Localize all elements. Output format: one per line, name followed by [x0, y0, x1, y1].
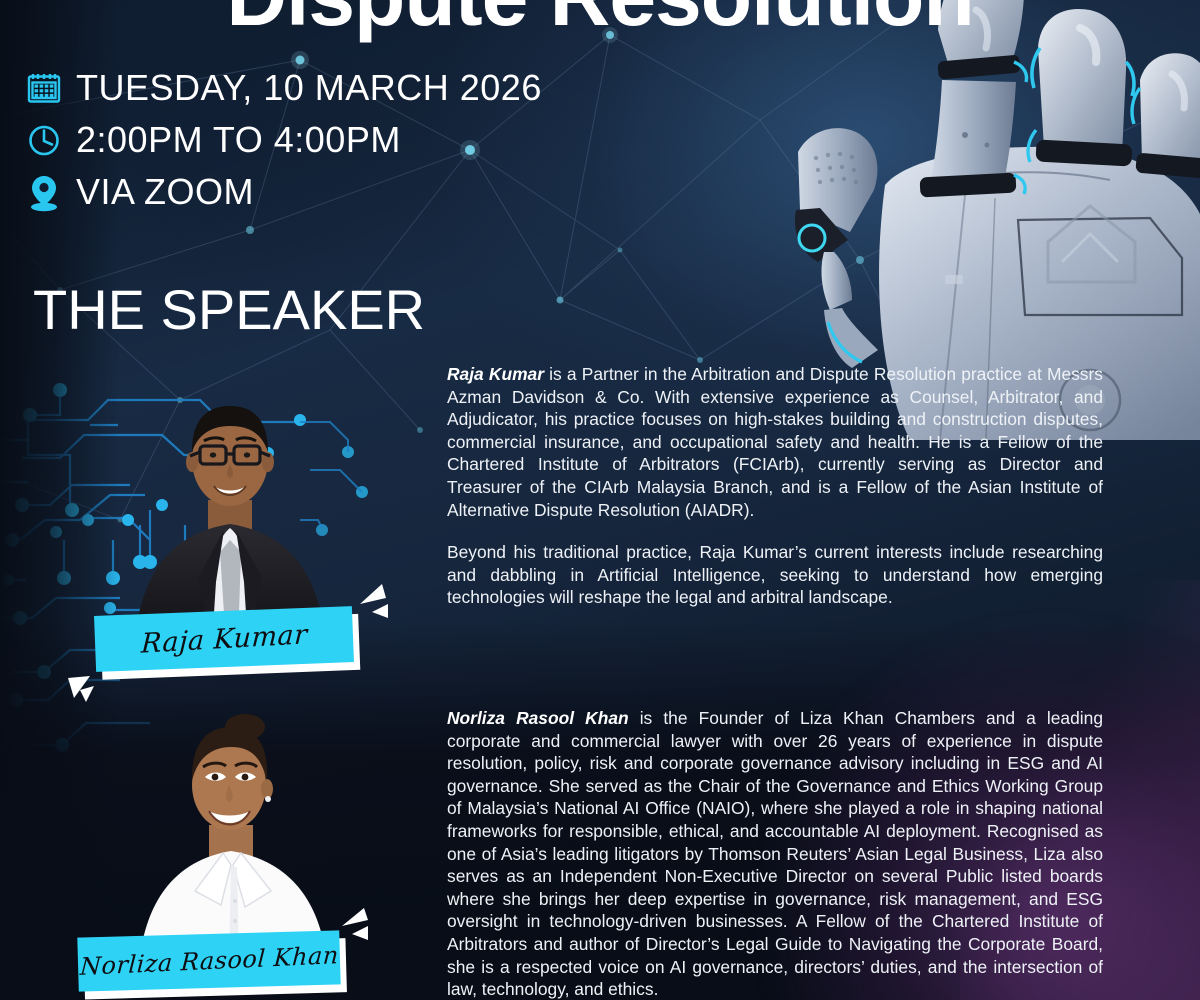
event-detail-location: VIA ZOOM	[24, 166, 542, 218]
speaker-bio-norliza-rasool-khan: Norliza Rasool Khan is the Founder of Li…	[447, 707, 1103, 1000]
event-time-text: 2:00PM TO 4:00PM	[76, 122, 401, 158]
speaker-bio-raja-kumar: Raja Kumar is a Partner in the Arbitrati…	[447, 363, 1103, 609]
bio-lead-name: Norliza Rasool Khan	[447, 708, 629, 728]
event-location-text: VIA ZOOM	[76, 174, 254, 210]
event-detail-date: TUESDAY, 10 MARCH 2026	[24, 62, 542, 114]
poster-title-strip: Dispute Resolution	[0, 0, 1200, 38]
speaker-photo-raja-kumar	[120, 382, 340, 644]
event-details-list: TUESDAY, 10 MARCH 2026 2:00PM TO 4:00PM …	[24, 62, 542, 218]
accent-triangle-bottom-left-1	[64, 672, 104, 717]
bio-paragraph: Beyond his traditional practice, Raja Ku…	[447, 541, 1103, 609]
bio-paragraph: Raja Kumar is a Partner in the Arbitrati…	[447, 363, 1103, 521]
bio-text: Beyond his traditional practice, Raja Ku…	[447, 542, 1103, 607]
nameplate-raja-kumar: Raja Kumar	[94, 606, 354, 672]
nameplate-label: Raja Kumar	[140, 619, 308, 659]
bio-paragraph: Norliza Rasool Khan is the Founder of Li…	[447, 707, 1103, 1000]
nameplate-norliza-rasool-khan: Norliza Rasool Khan	[77, 930, 340, 991]
nameplate-band: Raja Kumar	[94, 606, 354, 672]
nameplate-band: Norliza Rasool Khan	[77, 930, 340, 991]
calendar-icon	[24, 65, 76, 111]
clock-icon	[24, 117, 76, 163]
speaker-section-heading: THE SPEAKER	[33, 277, 425, 342]
speaker-photo-norliza-rasool-khan	[125, 705, 340, 963]
location-pin-icon	[24, 169, 76, 215]
event-date-text: TUESDAY, 10 MARCH 2026	[76, 70, 542, 106]
nameplate-label: Norliza Rasool Khan	[79, 941, 339, 981]
poster-canvas: Dispute Resolution	[0, 0, 1200, 1000]
page-title: Dispute Resolution	[0, 0, 1200, 38]
bio-text: is a Partner in the Arbitration and Disp…	[447, 364, 1103, 520]
bio-text: is the Founder of Liza Khan Chambers and…	[447, 708, 1103, 999]
bio-lead-name: Raja Kumar	[447, 364, 544, 384]
event-detail-time: 2:00PM TO 4:00PM	[24, 114, 542, 166]
